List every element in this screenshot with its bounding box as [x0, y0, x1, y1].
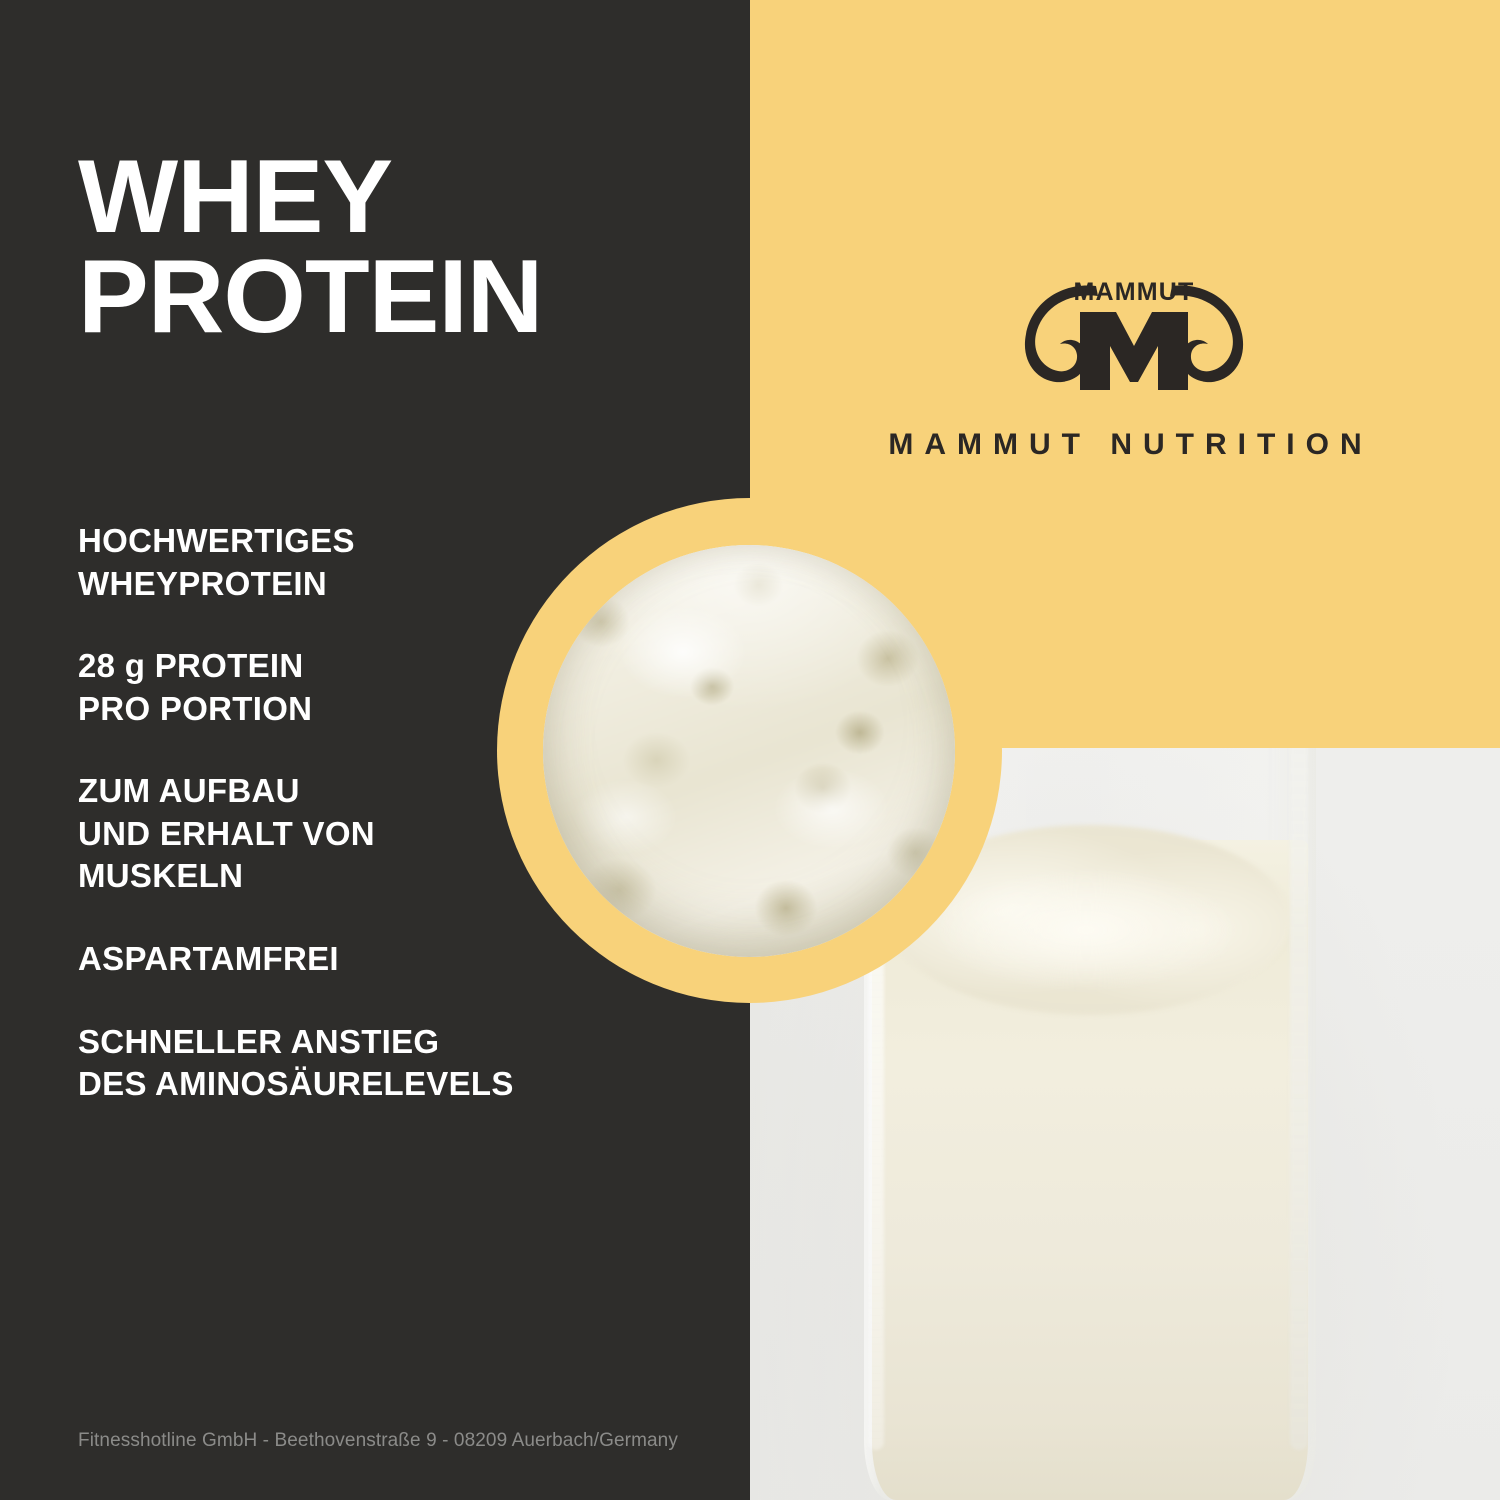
powder-shading [543, 545, 955, 957]
protein-powder-image [543, 545, 955, 957]
brand-wordmark: MAMMUT NUTRITION [750, 428, 1500, 462]
legal-footer: Fitnesshotline GmbH - Beethovenstraße 9 … [78, 1430, 678, 1452]
brand-logo: MAMMUT [1018, 272, 1250, 400]
logo-word: MAMMUT [1073, 278, 1194, 306]
milk-surface-highlight [936, 870, 1236, 990]
feature-item-amino: SCHNELLER ANSTIEG DES AMINOSÄURELEVELS [78, 1021, 638, 1106]
product-feature-poster: WHEY PROTEIN HOCHWERTIGES WHEYPROTEIN 28… [0, 0, 1500, 1500]
mammoth-tusks-m-logo-icon: MAMMUT [1018, 272, 1250, 400]
page-title: WHEY PROTEIN [78, 148, 542, 348]
